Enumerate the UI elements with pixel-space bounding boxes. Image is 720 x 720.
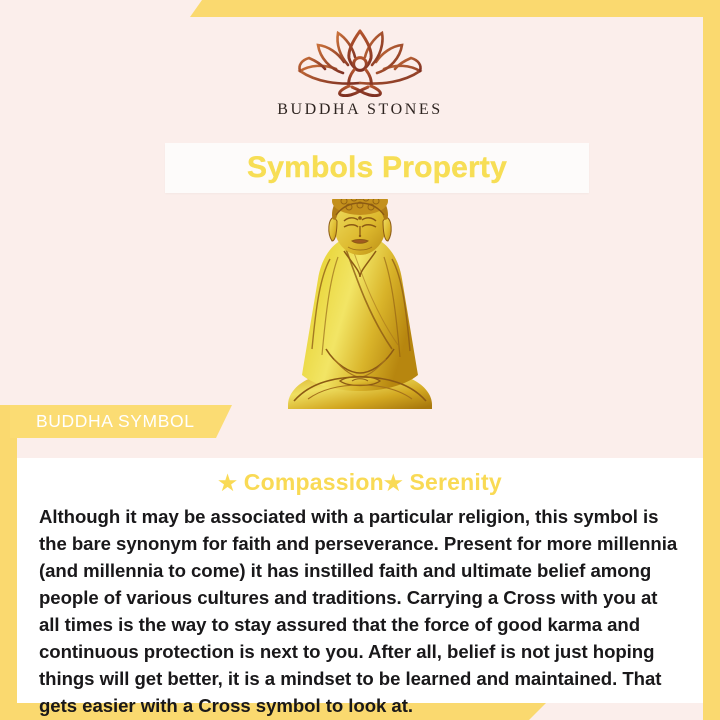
lotus-meditation-icon — [17, 25, 703, 97]
attribute-compassion: Compassion — [244, 469, 384, 495]
star-icon-1: ★ — [218, 472, 237, 495]
page-title: Symbols Property — [165, 151, 589, 185]
page-title-band: Symbols Property — [165, 143, 589, 193]
brand-name: BUDDHA STONES — [17, 101, 703, 119]
content-card: ★ Compassion★ Serenity Although it may b… — [17, 458, 703, 703]
upper-panel: BUDDHA STONES Symbols Property — [17, 17, 703, 458]
attributes-subtitle: ★ Compassion★ Serenity — [39, 469, 681, 496]
category-badge: BUDDHA SYMBOL — [10, 405, 232, 438]
hero-image — [17, 199, 703, 417]
attribute-serenity: Serenity — [409, 469, 501, 495]
decorative-left-yellow-bar — [0, 405, 17, 720]
infographic-page: BUDDHA STONES Symbols Property — [0, 0, 720, 720]
star-icon-2: ★ — [384, 472, 403, 495]
brand-block: BUDDHA STONES — [17, 25, 703, 119]
decorative-right-yellow-bar — [703, 0, 720, 720]
category-badge-label: BUDDHA SYMBOL — [10, 411, 195, 432]
decorative-top-yellow-bar — [190, 0, 720, 17]
description-paragraph: Although it may be associated with a par… — [39, 503, 681, 719]
golden-buddha-statue-icon — [274, 199, 446, 417]
